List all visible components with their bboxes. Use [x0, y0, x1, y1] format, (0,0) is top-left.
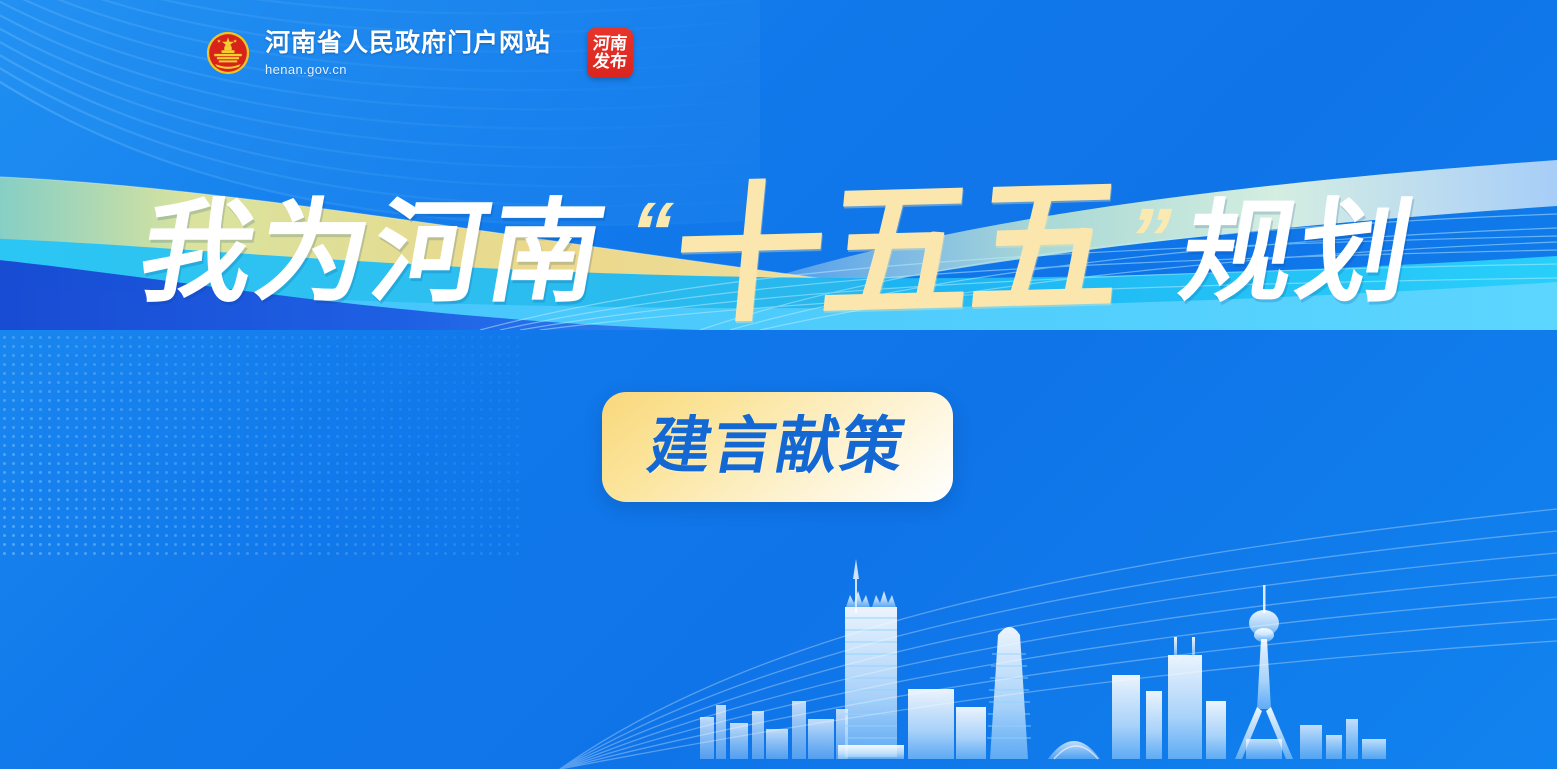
badge-line-2: 发布: [592, 53, 628, 71]
badge-line-1: 河南: [592, 35, 628, 53]
site-title-block: 河南省人民政府门户网站 henan.gov.cn: [265, 31, 551, 76]
henan-release-badge[interactable]: 河南 发布: [587, 28, 633, 78]
calligraphy-group: “ 十五五 ”: [626, 178, 1168, 328]
headline-right-text: 规划: [1173, 197, 1425, 309]
site-name: 河南省人民政府门户网站: [265, 31, 551, 56]
site-header: 河南省人民政府门户网站 henan.gov.cn 河南 发布: [205, 28, 633, 78]
site-url: henan.gov.cn: [265, 63, 551, 76]
submit-suggestion-button[interactable]: 建言献策: [602, 392, 953, 502]
national-emblem-icon: [205, 30, 251, 76]
headline: 我为河南 “ 十五五 ” 规划: [0, 118, 1557, 388]
henan-shiwuwu-banner: 河南省人民政府门户网站 henan.gov.cn 河南 发布 我为河南 “ 十五…: [0, 0, 1557, 769]
headline-left-text: 我为河南: [133, 197, 617, 309]
calligraphy-text: 十五五: [662, 172, 1134, 334]
cta-label: 建言献策: [644, 416, 911, 478]
